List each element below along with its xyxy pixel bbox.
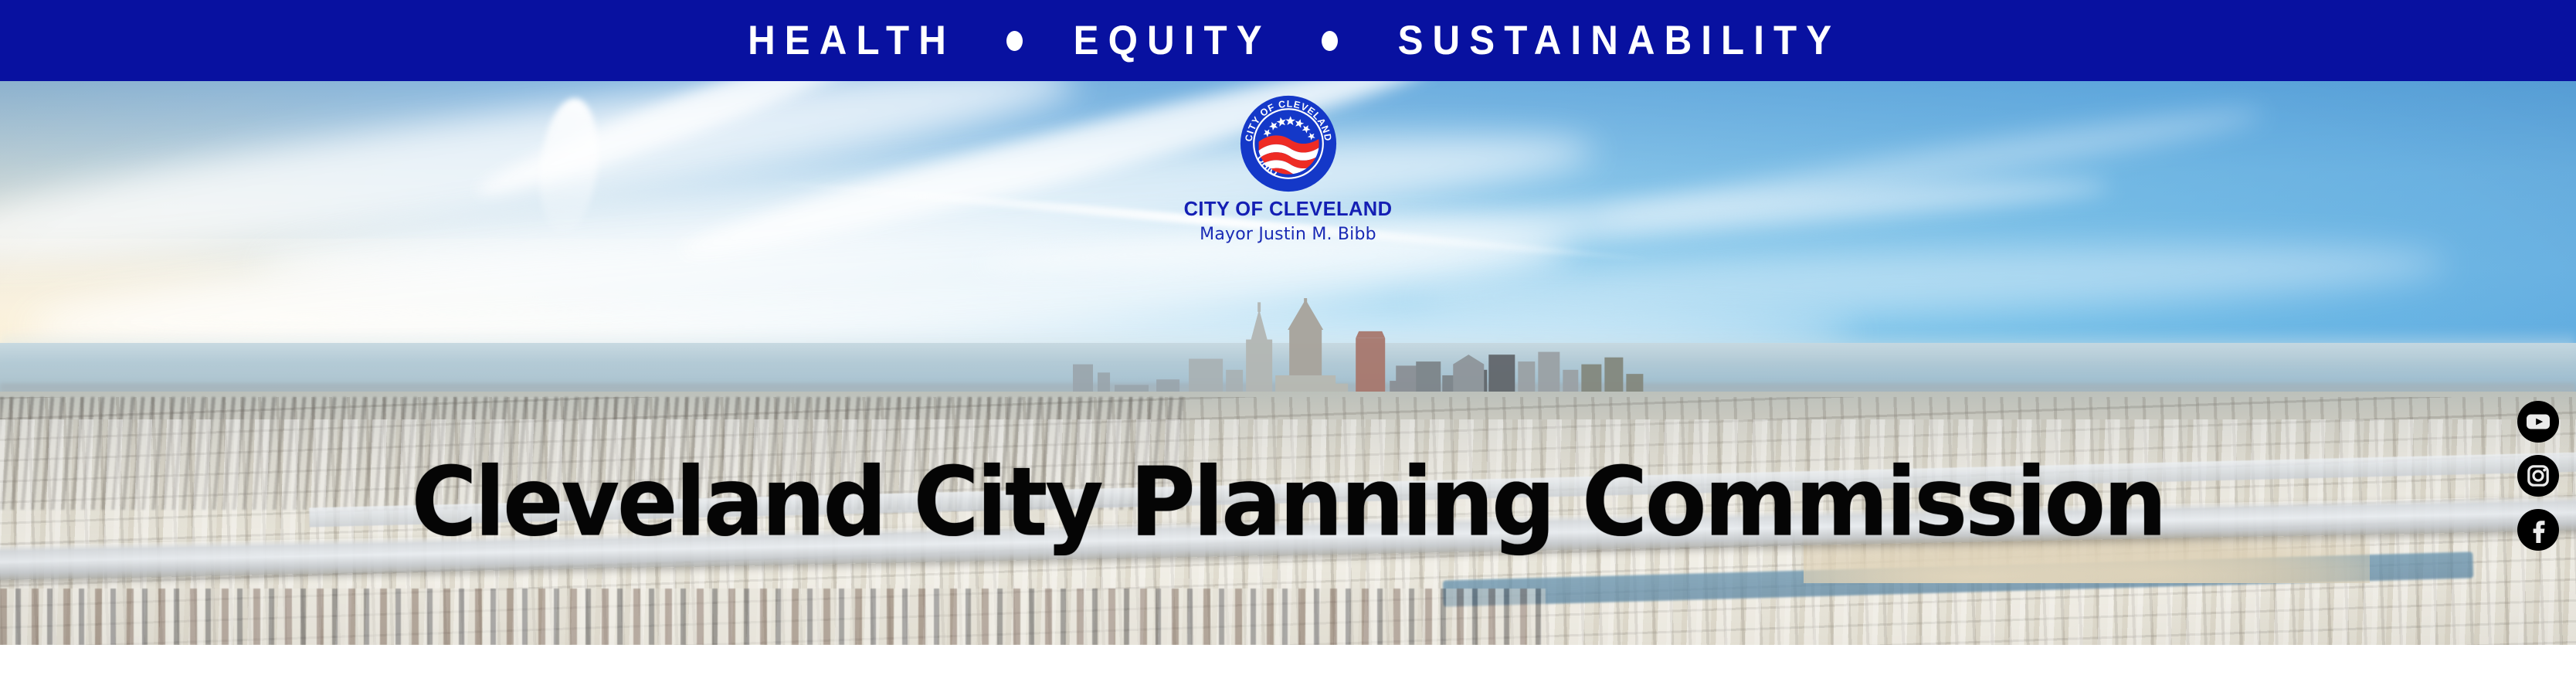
social-media-rail: [2517, 401, 2559, 551]
youtube-icon: [2525, 409, 2551, 435]
dot-separator-icon-1: [1006, 31, 1023, 51]
tagline-word-health: HEALTH: [748, 20, 955, 61]
city-branding-lockup: CITY OF CLEVELAND OHIO: [1126, 94, 1451, 243]
hero-photo: CITY OF CLEVELAND OHIO: [0, 81, 2576, 645]
tagline-banner: HEALTH EQUITY SUSTAINABILITY: [0, 0, 2576, 81]
tagline-inner: HEALTH EQUITY SUSTAINABILITY: [740, 20, 1858, 61]
tagline-word-equity: EQUITY: [1074, 20, 1271, 61]
facebook-icon: [2525, 517, 2551, 543]
city-of-cleveland-label: CITY OF CLEVELAND: [1184, 200, 1393, 220]
social-link-instagram[interactable]: [2517, 455, 2559, 497]
mayor-name-label: Mayor Justin M. Bibb: [1200, 226, 1376, 243]
tagline-word-sustainability: SUSTAINABILITY: [1398, 20, 1841, 61]
page-root: HEALTH EQUITY SUSTAINABILITY: [0, 0, 2576, 682]
city-of-cleveland-seal-icon: CITY OF CLEVELAND OHIO: [1239, 94, 1338, 193]
instagram-icon: [2525, 463, 2551, 489]
dot-separator-icon-2: [1322, 31, 1338, 51]
residential-rooftops: [0, 589, 1546, 645]
social-link-facebook[interactable]: [2517, 509, 2559, 551]
social-link-youtube[interactable]: [2517, 401, 2559, 443]
